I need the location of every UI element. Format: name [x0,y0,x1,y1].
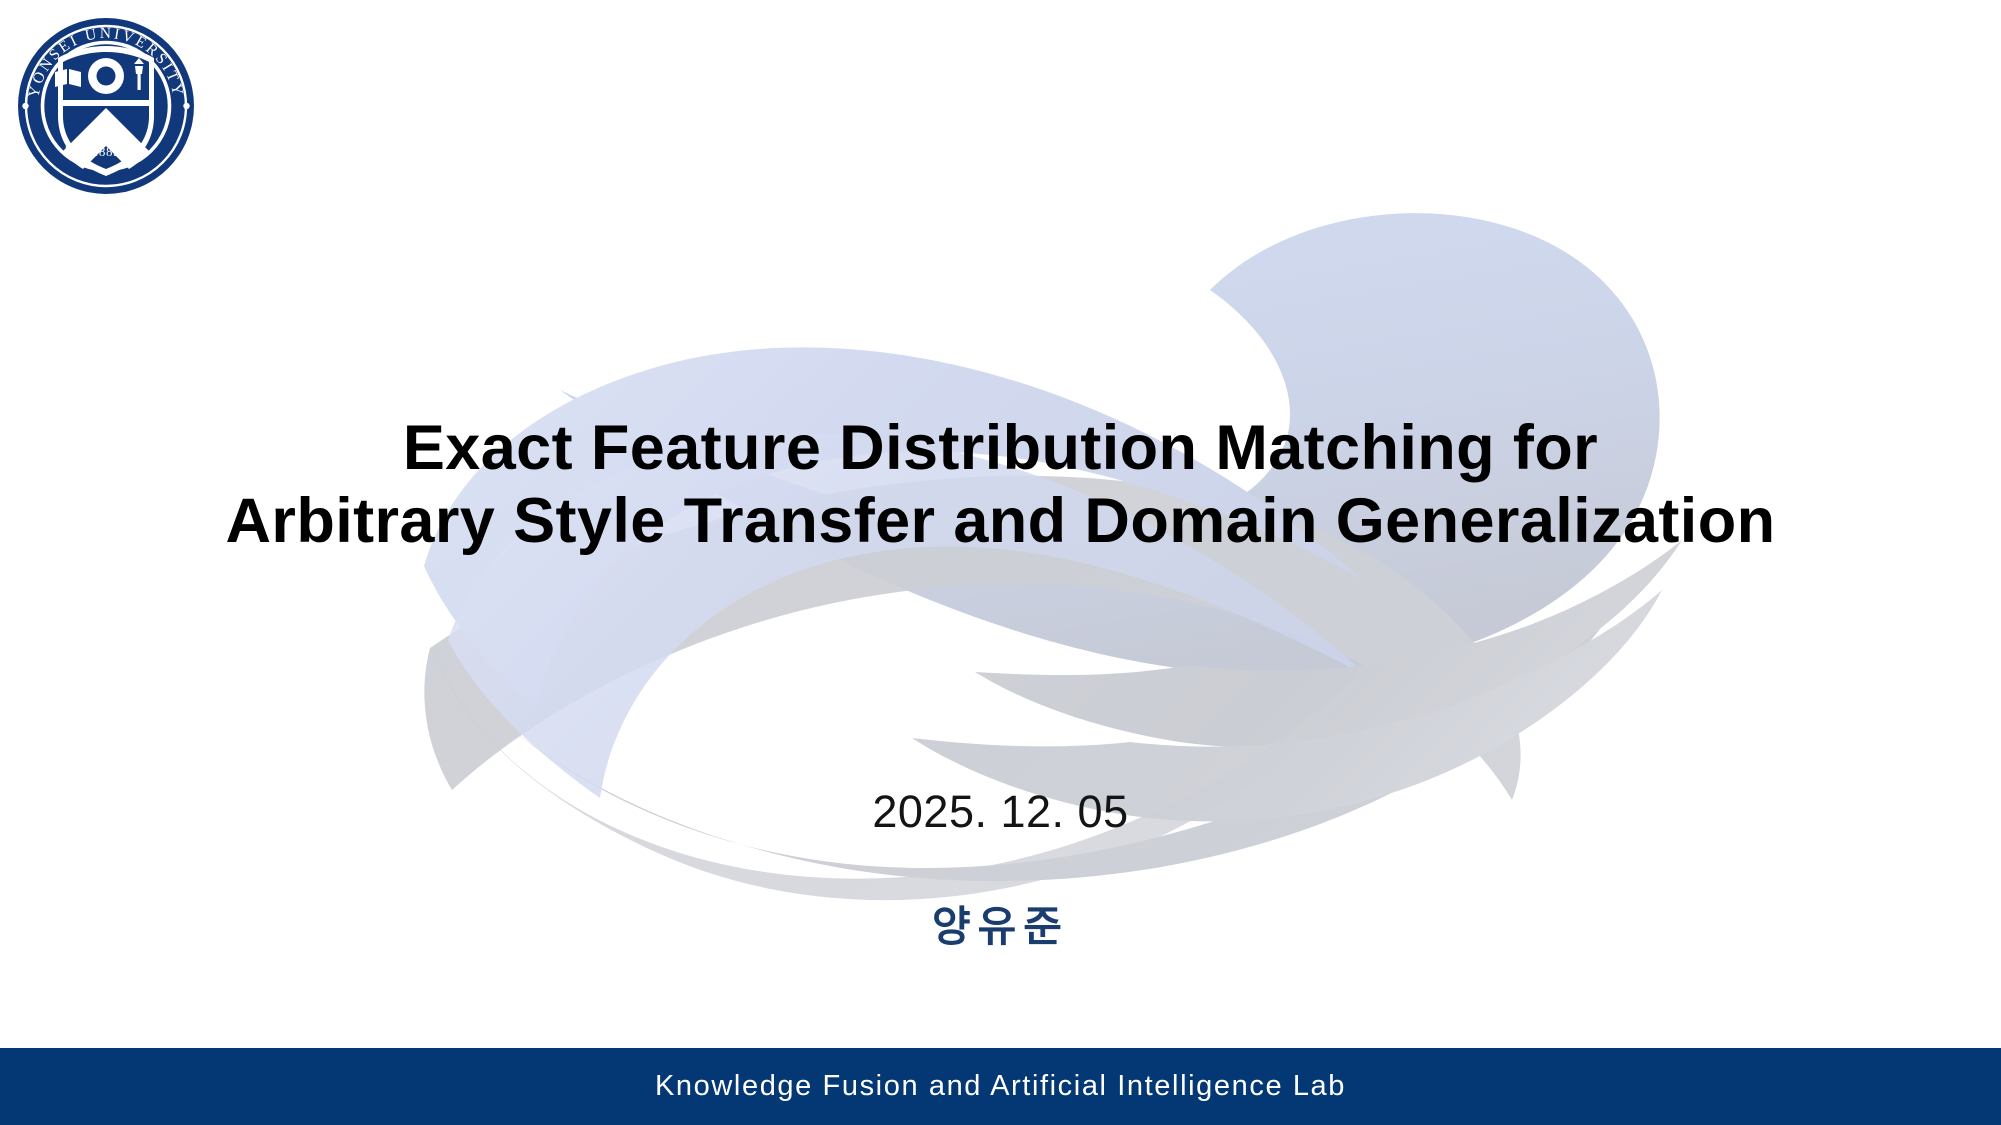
decorative-ribbon-graphic [0,0,2001,1125]
footer-lab-name: Knowledge Fusion and Artificial Intellig… [655,1070,1346,1103]
ribbon-gray-tail-upper [975,540,1682,747]
presentation-date: 2025. 12. 05 [0,786,2001,838]
yonsei-university-logo: YONSEI UNIVERSITY 연세대학교 1885 [8,8,204,204]
ribbon-gray-left-sweep [432,648,1368,900]
page-title: Exact Feature Distribution Matching for … [0,412,2001,558]
logo-founding-year: 1885 [92,144,120,159]
ribbon-gray-crescent [432,608,1615,881]
footer-bar: Knowledge Fusion and Artificial Intellig… [0,1048,2001,1125]
title-line-2: Arbitrary Style Transfer and Domain Gene… [0,485,2001,558]
title-slide: YONSEI UNIVERSITY 연세대학교 1885 [0,0,2001,1125]
author-text: 양유준 [932,903,1069,950]
title-line-1: Exact Feature Distribution Matching for [0,412,2001,485]
date-text: 2025. 12. 05 [872,786,1128,837]
presenter-name: 양유준 [0,893,2001,954]
